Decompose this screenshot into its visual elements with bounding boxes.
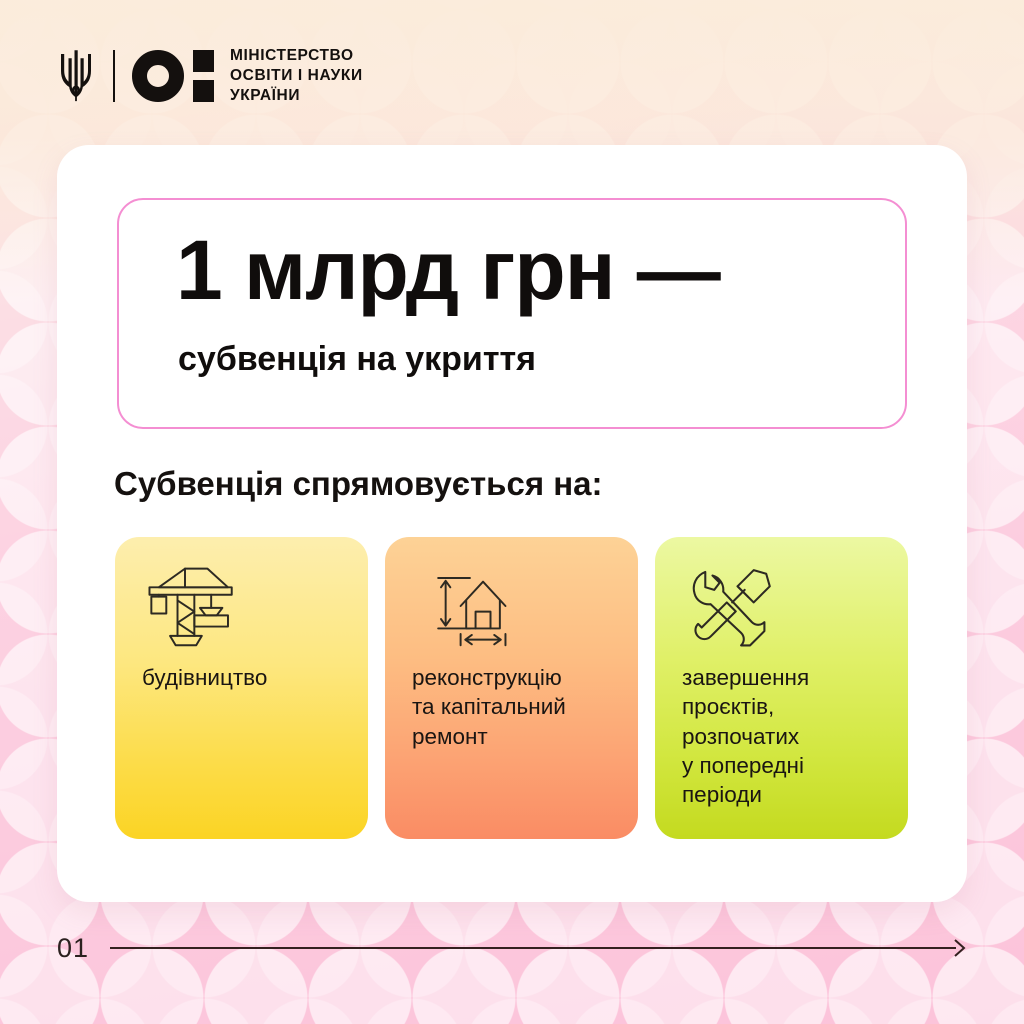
logo-bars-icon	[193, 50, 214, 102]
mon-logo-icon	[132, 50, 214, 102]
purpose-card-completion: завершення проєктів, розпочатих у попере…	[655, 537, 908, 839]
ministry-name: МІНІСТЕРСТВО ОСВІТИ І НАУКИ УКРАЇНИ	[230, 46, 363, 106]
house-dimensions-icon	[412, 563, 509, 649]
headline-amount: 1 млрд грн —	[176, 222, 720, 319]
logo-circle-icon	[132, 50, 184, 102]
headline-subtitle: субвенція на укриття	[178, 340, 536, 379]
purpose-card-label: завершення проєктів, розпочатих у попере…	[682, 663, 886, 809]
purpose-card-construction: будівництво	[115, 537, 368, 839]
content-panel: 1 млрд грн — субвенція на укриття Субвен…	[57, 145, 967, 902]
slide-footer: 01	[57, 931, 967, 965]
ukraine-trident-icon	[57, 48, 95, 104]
logo-divider	[113, 50, 115, 102]
ministry-line-1: МІНІСТЕРСТВО	[230, 46, 363, 66]
headline-box: 1 млрд грн — субвенція на укриття	[117, 198, 907, 429]
purpose-card-label: реконструкцію та капітальний ремонт	[412, 663, 616, 751]
purpose-card-reconstruction: реконструкцію та капітальний ремонт	[385, 537, 638, 839]
section-heading: Субвенція спрямовується на:	[114, 465, 603, 503]
ministry-line-2: ОСВІТИ І НАУКИ	[230, 66, 363, 86]
infographic-slide: МІНІСТЕРСТВО ОСВІТИ І НАУКИ УКРАЇНИ 1 мл…	[0, 0, 1024, 1024]
page-number: 01	[57, 933, 89, 964]
brand-header: МІНІСТЕРСТВО ОСВІТИ І НАУКИ УКРАЇНИ	[57, 44, 363, 108]
arrow-line	[110, 947, 956, 949]
purpose-card-label: будівництво	[142, 663, 346, 692]
ministry-line-3: УКРАЇНИ	[230, 86, 363, 106]
wrench-screwdriver-icon	[682, 563, 775, 649]
arrow-head-icon	[952, 939, 967, 957]
arrow-right-icon	[110, 938, 967, 958]
purpose-card-list: будівництво	[115, 537, 910, 839]
construction-crane-icon	[142, 563, 239, 649]
